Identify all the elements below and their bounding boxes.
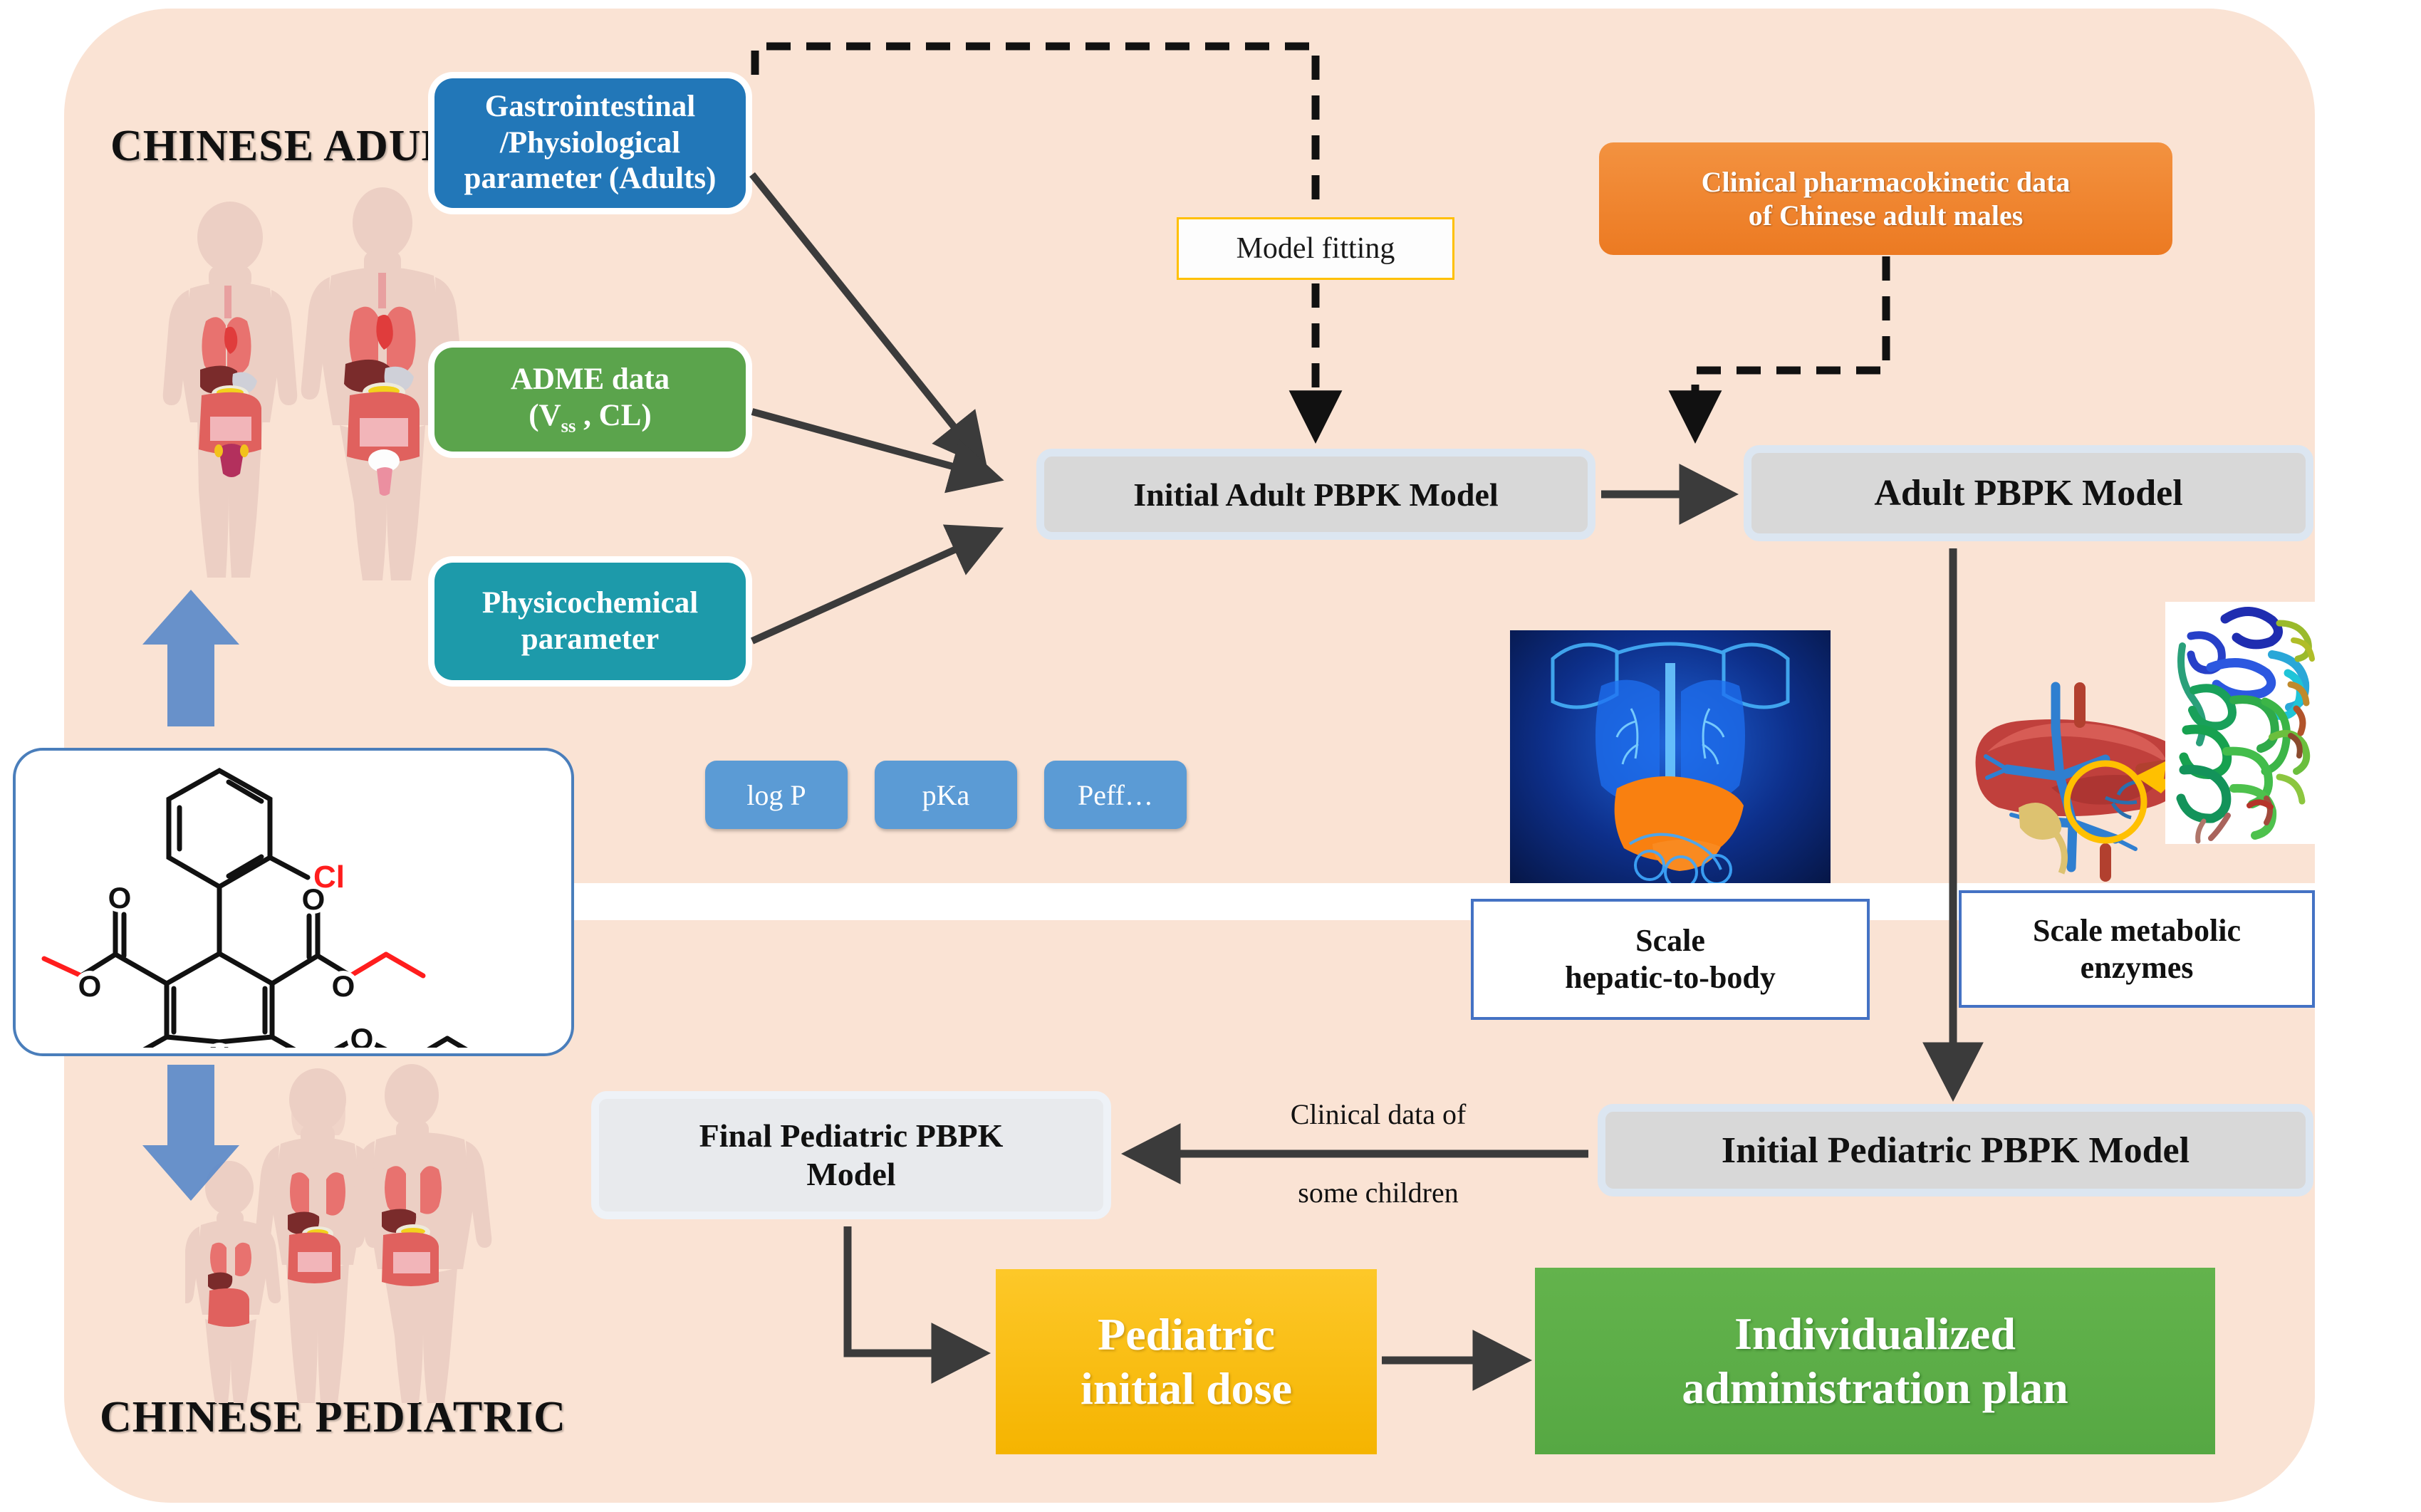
adme-cl: , CL): [576, 399, 651, 432]
pill-pka[interactable]: pKa: [875, 761, 1017, 829]
finalped-line-1: Final Pediatric PBPK: [699, 1117, 1004, 1155]
dose-line-2: initial dose: [1081, 1362, 1292, 1416]
pediatric-silhouettes-illustration: [185, 1061, 563, 1403]
clinchild-line-2: some children: [1243, 1174, 1514, 1212]
adult-silhouettes-illustration: [139, 182, 474, 580]
atom-label-nh2: NH: [481, 1045, 527, 1048]
initial-pediatric-pbpk-model-box[interactable]: Initial Pediatric PBPK Model: [1598, 1104, 2313, 1196]
gi-line-2: /Physiological: [464, 125, 717, 162]
clinical-pk-data-box[interactable]: Clinical pharmacokinetic data of Chinese…: [1599, 142, 2172, 255]
adme-line-2: (Vss , CL): [511, 398, 670, 437]
pediatric-initial-dose-box[interactable]: Pediatric initial dose: [996, 1269, 1377, 1454]
adme-paren-open: (V: [529, 399, 561, 432]
clinpk-line-2: of Chinese adult males: [1702, 199, 2071, 232]
protein-ribbon-image: [2165, 602, 2318, 844]
section-title-adult: CHINESE ADULT: [110, 121, 478, 172]
individualized-administration-plan-box[interactable]: Individualized administration plan: [1535, 1268, 2215, 1454]
physicochemical-parameter-box[interactable]: Physicochemical parameter: [434, 563, 746, 680]
adme-vss-subscript: ss: [561, 415, 576, 436]
gi-line-3: parameter (Adults): [464, 161, 717, 197]
final-pediatric-pbpk-model-box[interactable]: Final Pediatric PBPK Model: [591, 1091, 1111, 1219]
pill-log-p[interactable]: log P: [705, 761, 848, 829]
clinpk-line-1: Clinical pharmacokinetic data: [1702, 165, 2071, 199]
phys-line-2: parameter: [482, 622, 698, 658]
pill-peff[interactable]: Peff…: [1044, 761, 1187, 829]
adme-data-box[interactable]: ADME data (Vss , CL): [434, 348, 746, 452]
atom-label-o: O: [332, 969, 355, 1003]
clinchild-line-1: Clinical data of: [1243, 1095, 1514, 1134]
adme-line-1: ADME data: [511, 362, 670, 398]
gi-line-1: Gastrointestinal: [464, 89, 717, 125]
phys-line-1: Physicochemical: [482, 585, 698, 622]
figure-canvas: CHINESE ADULT CHINESE PEDIATRIC: [0, 0, 2421, 1512]
atom-label-n: N: [209, 1041, 230, 1048]
scale-enz-line-2: enzymes: [2033, 949, 2241, 986]
dose-line-1: Pediatric: [1081, 1308, 1292, 1362]
adult-pbpk-model-box[interactable]: Adult PBPK Model: [1744, 445, 2313, 541]
model-fitting-box[interactable]: Model fitting: [1177, 217, 1454, 280]
scale-enz-line-1: Scale metabolic: [2033, 912, 2241, 949]
atom-label-o: O: [78, 969, 102, 1003]
plan-line-2: administration plan: [1682, 1361, 2068, 1415]
initial-adult-pbpk-model-box[interactable]: Initial Adult PBPK Model: [1036, 449, 1595, 540]
atom-label-o: O: [108, 881, 132, 914]
amlodipine-structure-svg: O O O O O N H Cl NH 2: [16, 751, 566, 1048]
scale-hep-line-1: Scale: [1565, 922, 1776, 959]
plan-line-1: Individualized: [1682, 1307, 2068, 1361]
finalped-line-2: Model: [699, 1155, 1004, 1194]
gastrointestinal-parameter-box[interactable]: Gastrointestinal /Physiological paramete…: [434, 78, 746, 208]
xray-torso-liver-image: [1510, 630, 1831, 883]
chemical-structure-card: O O O O O N H Cl NH 2: [13, 748, 574, 1056]
scale-metabolic-enzymes-box[interactable]: Scale metabolic enzymes: [1959, 890, 2315, 1008]
scale-hep-line-2: hepatic-to-body: [1565, 959, 1776, 996]
atom-label-o: O: [350, 1022, 374, 1048]
clinical-data-children-label: Clinical data of some children: [1243, 1095, 1514, 1212]
atom-label-cl: Cl: [313, 860, 345, 895]
scale-hepatic-to-body-box[interactable]: Scale hepatic-to-body: [1471, 899, 1870, 1020]
